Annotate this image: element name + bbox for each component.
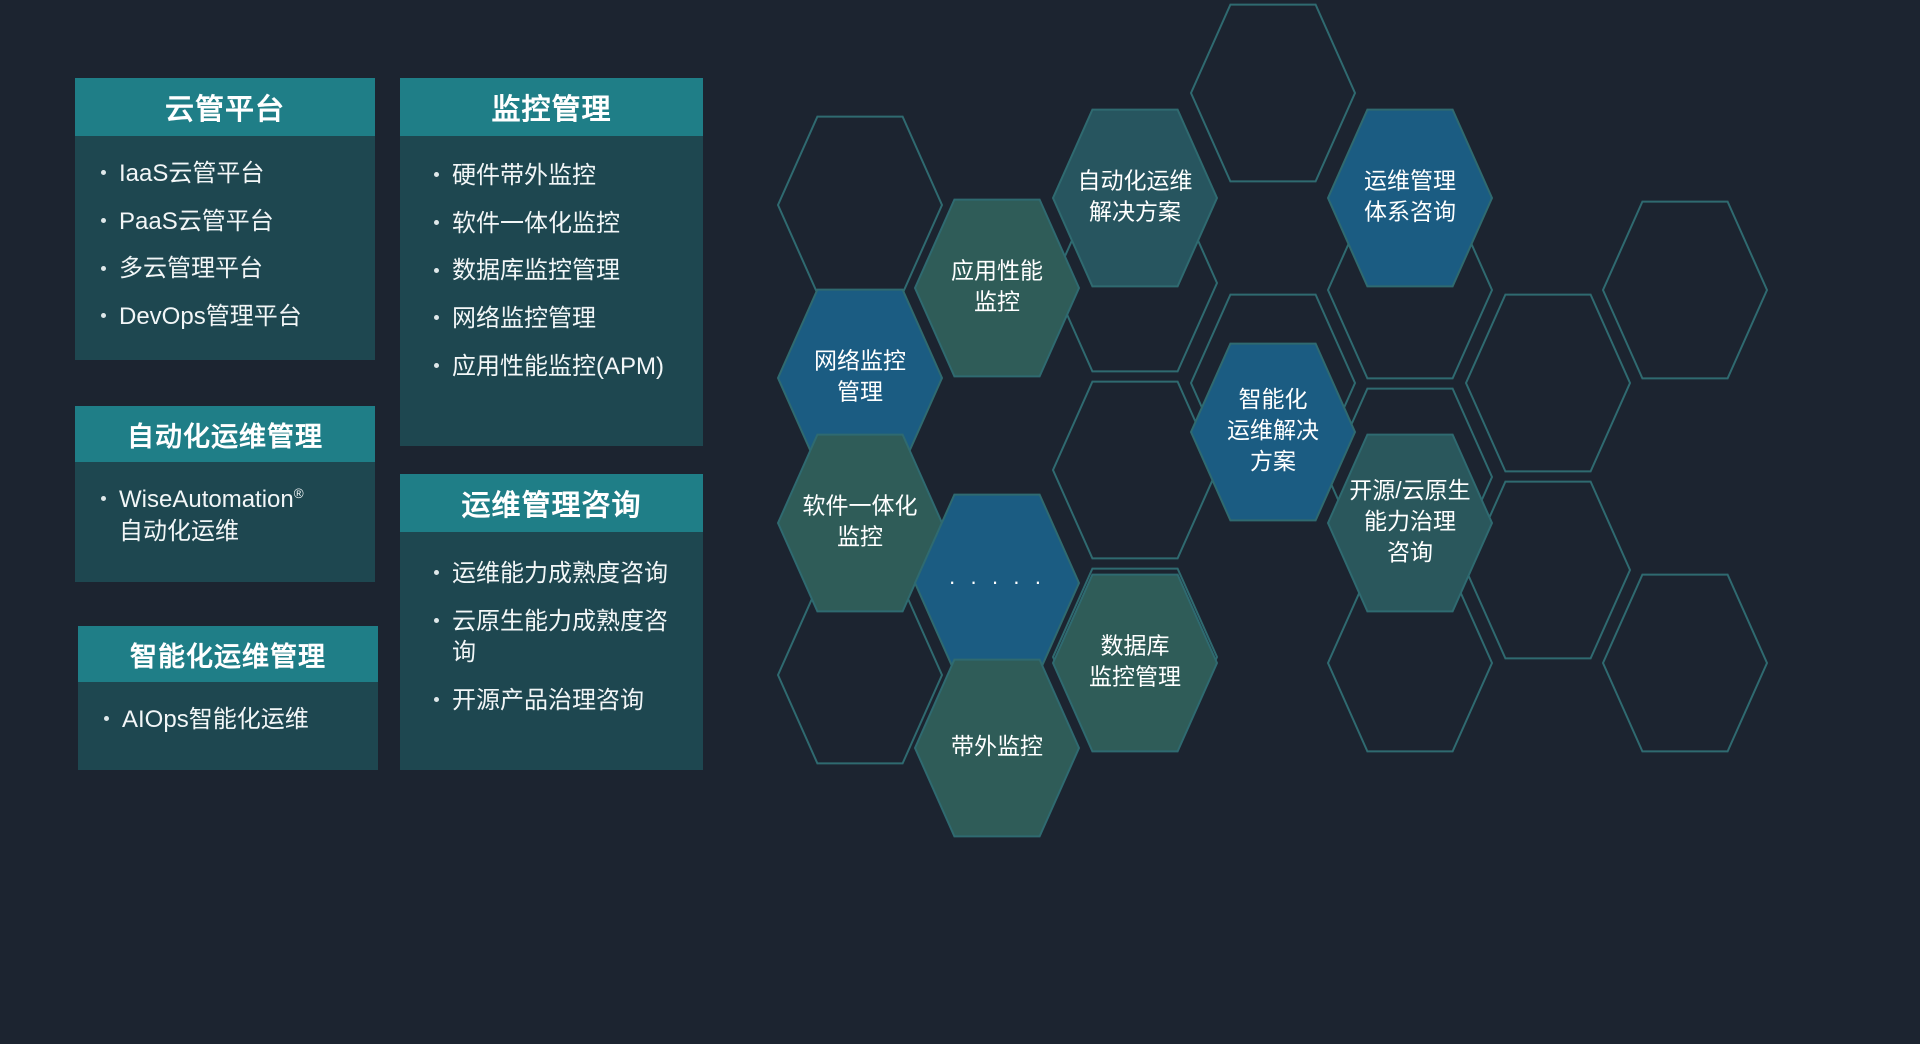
- card-body: 运维能力成熟度咨询 云原生能力成熟度咨询 开源产品治理咨询: [400, 532, 703, 770]
- hex-software-mon-label: 监控: [837, 524, 883, 550]
- card-title: 云管平台: [75, 78, 375, 136]
- list-item: AIOps智能化运维: [100, 704, 364, 736]
- hex-empty-13-shape: [1603, 202, 1767, 379]
- card-body: IaaS云管平台 PaaS云管平台 多云管理平台 DevOps管理平台: [75, 136, 375, 360]
- hex-software-mon-label: 软件一体化: [803, 493, 918, 519]
- list-item: 多云管理平台: [97, 253, 361, 285]
- hex-ellipsis-label: · · · · ·: [948, 569, 1045, 594]
- hexagon-capability-map: 网络监控管理应用性能监控自动化运维解决方案运维管理体系咨询智能化运维解决方案开源…: [700, 0, 1920, 1044]
- hex-empty-8-shape: [1466, 295, 1630, 472]
- list-item-label: 云原生能力成熟度咨询: [452, 608, 668, 667]
- list-item-label: 网络监控管理: [452, 305, 596, 332]
- card-automation-ops: 自动化运维管理 WiseAutomation® 自动化运维: [75, 406, 375, 582]
- hex-oob-monitor[interactable]: 带外监控: [915, 660, 1079, 837]
- hex-aiops-solution[interactable]: 智能化运维解决方案: [1191, 344, 1355, 521]
- list-item-label: 开源产品治理咨询: [452, 687, 644, 714]
- bullet-dot-icon: [434, 268, 439, 273]
- card-item-list: IaaS云管平台 PaaS云管平台 多云管理平台 DevOps管理平台: [97, 158, 361, 333]
- hex-empty-5: [1053, 382, 1217, 559]
- list-item: 应用性能监控(APM): [430, 351, 689, 383]
- list-item-label: 软件一体化监控: [452, 210, 620, 237]
- hex-empty-13: [1603, 202, 1767, 379]
- card-title: 运维管理咨询: [400, 474, 703, 532]
- bullet-dot-icon: [434, 220, 439, 225]
- hex-empty-1: [778, 117, 942, 294]
- list-item-label: IaaS云管平台: [119, 160, 264, 187]
- bullet-dot-icon: [434, 363, 439, 368]
- hex-aiops-solution-label: 智能化: [1239, 386, 1308, 412]
- hexagon-grid-svg: 网络监控管理应用性能监控自动化运维解决方案运维管理体系咨询智能化运维解决方案开源…: [700, 0, 1920, 1044]
- hex-network-monitor-label: 网络监控: [814, 348, 906, 374]
- card-monitoring-management: 监控管理 硬件带外监控 软件一体化监控 数据库监控管理 网络监控管理 应用性能监…: [400, 78, 703, 446]
- hex-ops-system-label: 运维管理: [1364, 168, 1456, 194]
- hex-network-monitor-label: 管理: [837, 379, 883, 405]
- hex-auto-ops-label: 自动化运维: [1078, 168, 1193, 194]
- hex-opensource[interactable]: 开源/云原生能力治理咨询: [1328, 435, 1492, 612]
- list-item-label: 硬件带外监控: [452, 162, 596, 189]
- hex-opensource-label: 开源/云原生: [1349, 477, 1470, 503]
- card-body: WiseAutomation® 自动化运维: [75, 462, 375, 582]
- hex-empty-1-shape: [778, 117, 942, 294]
- bullet-dot-icon: [434, 618, 439, 623]
- hex-empty-2-shape: [1191, 5, 1355, 182]
- card-cloud-platform: 云管平台 IaaS云管平台 PaaS云管平台 多云管理平台 DevOps管理平台: [75, 78, 375, 360]
- registered-mark-icon: ®: [294, 486, 304, 501]
- hex-db-monitor-label: 数据库: [1101, 633, 1170, 659]
- hex-empty-14: [1603, 575, 1767, 752]
- list-item: DevOps管理平台: [97, 301, 361, 333]
- hex-empty-5-shape: [1053, 382, 1217, 559]
- bullet-dot-icon: [101, 496, 106, 501]
- hex-apm-label: 监控: [974, 289, 1020, 315]
- card-body: AIOps智能化运维: [78, 682, 378, 770]
- list-item-label: 数据库监控管理: [452, 257, 620, 284]
- hex-auto-ops-label: 解决方案: [1089, 199, 1181, 225]
- list-item: 网络监控管理: [430, 303, 689, 335]
- list-item: 开源产品治理咨询: [430, 685, 689, 717]
- card-item-list: AIOps智能化运维: [100, 704, 364, 736]
- bullet-dot-icon: [101, 313, 106, 318]
- list-item: PaaS云管平台: [97, 206, 361, 238]
- hex-opensource-label: 能力治理: [1364, 508, 1456, 534]
- bullet-dot-icon: [434, 570, 439, 575]
- bullet-dot-icon: [101, 266, 106, 271]
- card-item-list: 运维能力成熟度咨询 云原生能力成熟度咨询 开源产品治理咨询: [430, 558, 689, 717]
- list-item-label: AIOps智能化运维: [122, 706, 309, 733]
- card-intelligent-ops: 智能化运维管理 AIOps智能化运维: [78, 626, 378, 770]
- card-title: 自动化运维管理: [75, 406, 375, 462]
- bullet-dot-icon: [434, 697, 439, 702]
- list-item: 运维能力成熟度咨询: [430, 558, 689, 590]
- hex-empty-9-shape: [1466, 482, 1630, 659]
- hex-ops-system-label: 体系咨询: [1364, 199, 1456, 225]
- card-item-list: WiseAutomation® 自动化运维: [97, 484, 361, 547]
- list-item: IaaS云管平台: [97, 158, 361, 190]
- hex-oob-monitor-label: 带外监控: [951, 733, 1043, 759]
- card-body: 硬件带外监控 软件一体化监控 数据库监控管理 网络监控管理 应用性能监控(APM…: [400, 136, 703, 446]
- hex-empty-2: [1191, 5, 1355, 182]
- hex-ops-system[interactable]: 运维管理体系咨询: [1328, 110, 1492, 287]
- list-item: WiseAutomation® 自动化运维: [97, 484, 361, 547]
- hex-aiops-solution-label: 方案: [1250, 448, 1296, 474]
- hex-empty-11-shape: [778, 587, 942, 764]
- list-item-label: 多云管理平台: [119, 255, 263, 282]
- list-item-label: PaaS云管平台: [119, 208, 274, 235]
- list-item-label-prefix: WiseAutomation: [119, 486, 294, 513]
- hex-db-monitor-label: 监控管理: [1089, 664, 1181, 690]
- hex-auto-ops[interactable]: 自动化运维解决方案: [1053, 110, 1217, 287]
- bullet-dot-icon: [101, 170, 106, 175]
- list-item-label: 运维能力成熟度咨询: [452, 560, 668, 587]
- hex-empty-9: [1466, 482, 1630, 659]
- bullet-dot-icon: [434, 315, 439, 320]
- hex-apm[interactable]: 应用性能监控: [915, 200, 1079, 377]
- hex-opensource-label: 咨询: [1387, 539, 1433, 565]
- hex-apm-label: 应用性能: [951, 258, 1043, 284]
- list-item-label: 应用性能监控(APM): [452, 353, 664, 380]
- card-title: 监控管理: [400, 78, 703, 136]
- hex-empty-11: [778, 587, 942, 764]
- card-ops-consulting: 运维管理咨询 运维能力成熟度咨询 云原生能力成熟度咨询 开源产品治理咨询: [400, 474, 703, 770]
- card-item-list: 硬件带外监控 软件一体化监控 数据库监控管理 网络监控管理 应用性能监控(APM…: [430, 160, 689, 382]
- bullet-dot-icon: [101, 218, 106, 223]
- list-item: 云原生能力成熟度咨询: [430, 606, 689, 669]
- list-item: 硬件带外监控: [430, 160, 689, 192]
- bullet-dot-icon: [434, 172, 439, 177]
- bullet-dot-icon: [104, 716, 109, 721]
- list-item: 数据库监控管理: [430, 255, 689, 287]
- list-item-label: DevOps管理平台: [119, 303, 302, 330]
- hex-aiops-solution-label: 运维解决: [1227, 417, 1319, 443]
- hex-empty-8: [1466, 295, 1630, 472]
- hex-empty-14-shape: [1603, 575, 1767, 752]
- list-item-label-second: 自动化运维: [119, 518, 239, 545]
- list-item: 软件一体化监控: [430, 208, 689, 240]
- card-title: 智能化运维管理: [78, 626, 378, 682]
